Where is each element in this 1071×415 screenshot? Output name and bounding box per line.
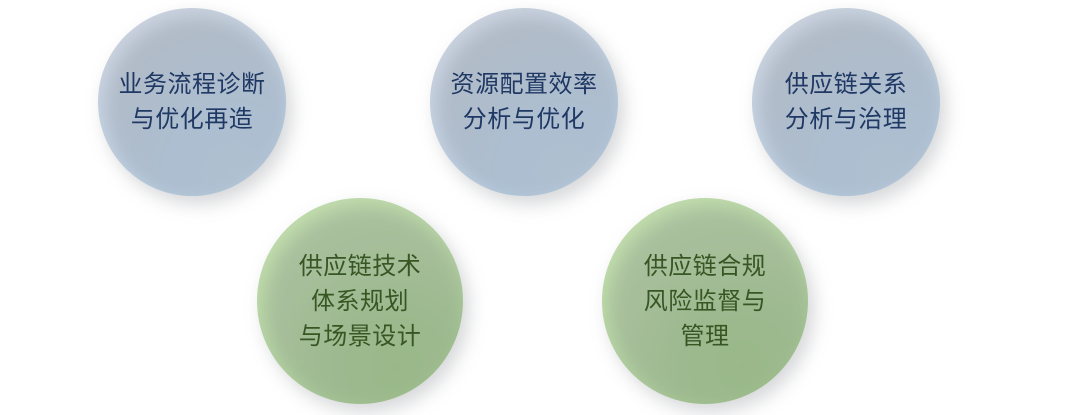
- bubble-business-process-diagnosis[interactable]: 业务流程诊断 与优化再造: [98, 8, 286, 196]
- bubble-label: 供应链关系 分析与治理: [785, 67, 908, 137]
- bubble-label: 供应链技术 体系规划 与场景设计: [299, 249, 422, 354]
- bubble-resource-allocation-efficiency[interactable]: 资源配置效率 分析与优化: [430, 8, 618, 196]
- bubble-supply-chain-relationship[interactable]: 供应链关系 分析与治理: [752, 8, 940, 196]
- bubble-label: 供应链合规 风险监督与 管理: [644, 249, 767, 354]
- bubble-label: 资源配置效率 分析与优化: [451, 67, 598, 137]
- bubble-supply-chain-technology-planning[interactable]: 供应链技术 体系规划 与场景设计: [257, 198, 463, 404]
- bubble-label: 业务流程诊断 与优化再造: [119, 67, 266, 137]
- bubble-supply-chain-compliance-risk[interactable]: 供应链合规 风险监督与 管理: [602, 198, 808, 404]
- diagram-canvas: 业务流程诊断 与优化再造 资源配置效率 分析与优化 供应链关系 分析与治理 供应…: [0, 0, 1071, 415]
